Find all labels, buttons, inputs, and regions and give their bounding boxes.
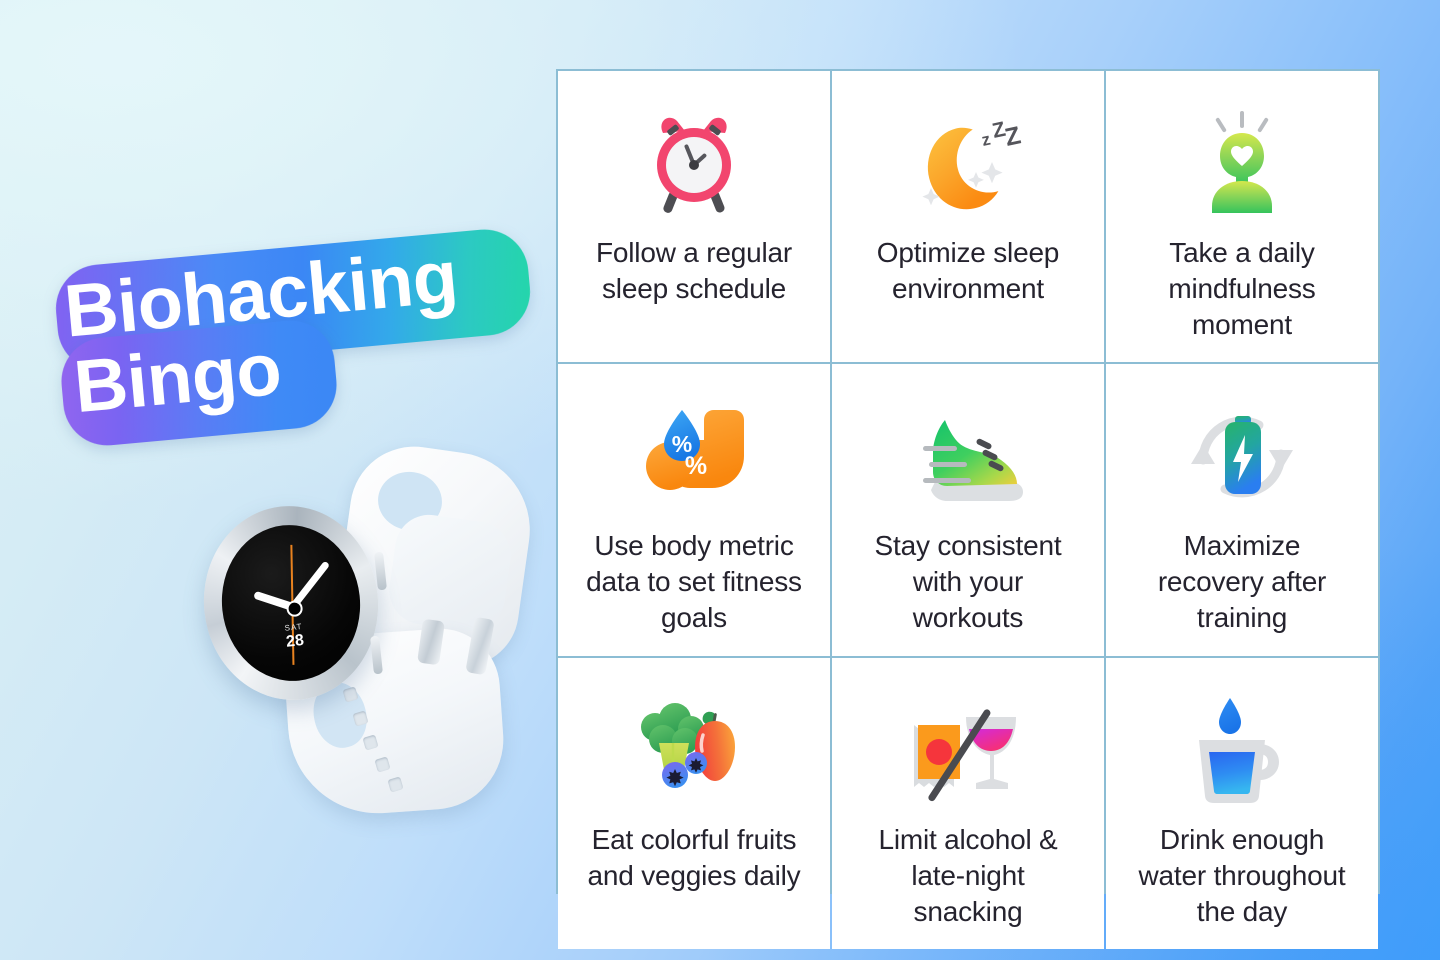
smartwatch-product-image: SAT 28 (196, 444, 526, 816)
running-shoe-icon (905, 398, 1031, 516)
bingo-cell-1[interactable]: Follow a regular sleep schedule (558, 71, 830, 362)
bingo-cell-5[interactable]: Stay consistent with your workouts (832, 364, 1104, 655)
bingo-cell-8[interactable]: Limit alcohol & late-night snacking (832, 658, 1104, 949)
watch-hand-pivot (286, 600, 304, 618)
bingo-cell-label: Drink enough water throughout the day (1128, 822, 1356, 929)
bingo-cell-9[interactable]: Drink enough water throughout the day (1106, 658, 1378, 949)
watch-screen: SAT 28 (214, 518, 368, 688)
flexed-bicep-percent-icon: % % (634, 398, 754, 516)
svg-text:%: % (685, 452, 707, 480)
bingo-cell-2[interactable]: z Z Z Optimize sleep environment (832, 71, 1104, 362)
bingo-cell-label: Optimize sleep environment (854, 235, 1082, 307)
bingo-cell-4[interactable]: % % Use body metric data to set fitness … (558, 364, 830, 655)
bingo-cell-3[interactable]: Take a daily mindfulness moment (1106, 71, 1378, 362)
bingo-cell-label: Take a daily mindfulness moment (1128, 235, 1356, 342)
battery-recovery-icon (1183, 398, 1301, 516)
watch-band-top-inner (385, 510, 515, 635)
svg-text:z: z (980, 130, 992, 150)
infographic-canvas: Biohacking Bingo SAT 28 (0, 0, 1440, 960)
bingo-cell-label: Maximize recovery after training (1128, 528, 1356, 635)
bingo-cell-label: Stay consistent with your workouts (854, 528, 1082, 635)
no-alcohol-snacks-icon (906, 692, 1030, 810)
fruits-and-veggies-icon (629, 692, 759, 810)
bingo-cell-label: Follow a regular sleep schedule (580, 235, 808, 307)
bingo-cell-6[interactable]: Maximize recovery after training (1106, 364, 1378, 655)
bingo-cell-7[interactable]: Eat colorful fruits and veggies daily (558, 658, 830, 949)
mindful-person-heart-icon (1190, 105, 1294, 223)
bingo-cell-label: Eat colorful fruits and veggies daily (580, 822, 808, 894)
water-mug-droplet-icon (1189, 692, 1295, 810)
bingo-cell-label: Use body metric data to set fitness goal… (580, 528, 808, 635)
bingo-grid: Follow a regular sleep schedule z Z (556, 69, 1380, 894)
crescent-moon-zzz-icon: z Z Z (908, 105, 1028, 223)
alarm-clock-icon (639, 105, 749, 223)
bingo-cell-label: Limit alcohol & late-night snacking (854, 822, 1082, 929)
svg-text:Z: Z (1002, 121, 1023, 152)
